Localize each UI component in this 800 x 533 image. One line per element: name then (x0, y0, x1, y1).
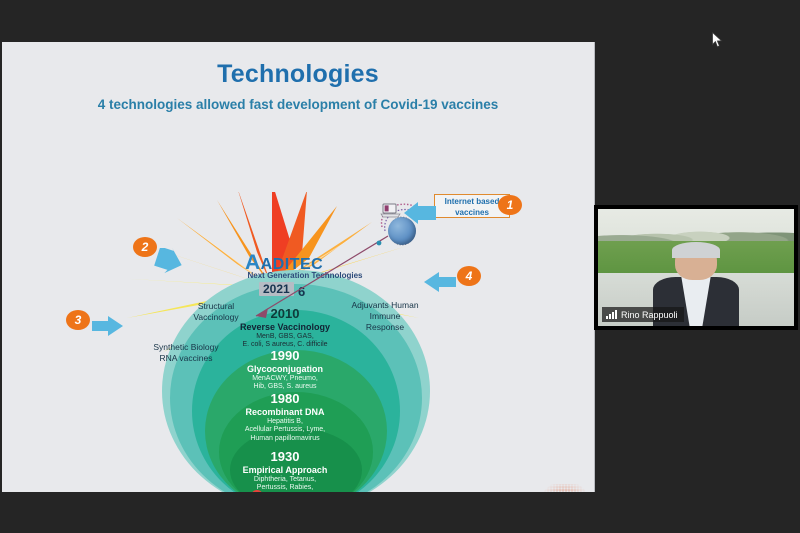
ring-items: Hepatitis B, Acellular Pertussis, Lyme, … (205, 418, 365, 443)
meeting-screen: Technologies 4 technologies allowed fast… (0, 0, 800, 533)
video-feed: Rino Rappuoli (598, 209, 794, 326)
presentation-slide[interactable]: Technologies 4 technologies allowed fast… (2, 42, 595, 492)
mouse-pointer-icon (712, 32, 723, 48)
signal-bars-icon (606, 310, 617, 319)
location-pin-icon (251, 490, 263, 492)
ring-year: 1930 (205, 450, 365, 464)
ring-heading: Empirical Approach (205, 465, 365, 475)
laptop-icon (380, 203, 402, 218)
badge-1: 1 (498, 195, 522, 215)
arrow-icon-4 (422, 270, 456, 294)
ring-heading: Recombinant DNA (205, 407, 365, 417)
participant-name: Rino Rappuoli (621, 310, 678, 320)
ring-heading: Glycoconjugation (205, 364, 365, 374)
arrow-icon-3 (92, 314, 124, 338)
page-title: Technologies (2, 60, 594, 89)
ring-year: 1980 (205, 392, 365, 406)
page-subtitle: 4 technologies allowed fast development … (2, 97, 594, 112)
connector-line (242, 232, 392, 322)
ring-heading: Reverse Vaccinology (205, 322, 365, 332)
arrow-icon-1 (402, 202, 438, 228)
participant-hair (672, 242, 720, 258)
ring-year: 1990 (205, 349, 365, 363)
arrow-icon-2 (154, 248, 184, 276)
ring-items: Diphtheria, Tetanus, Pertussis, Rabies, … (205, 476, 365, 492)
badge-4: 4 (457, 266, 481, 286)
participant-name-bar: Rino Rappuoli (602, 307, 684, 322)
erc-logo: erc (536, 484, 594, 492)
ring-items: MenACWY, Pneumo, Hib, GBS, S. aureus (205, 375, 365, 392)
ring-entry-1980: 1980 Recombinant DNA Hepatitis B, Acellu… (205, 392, 365, 443)
badge-3: 3 (66, 310, 90, 330)
ring-entry-1990: 1990 Glycoconjugation MenACWY, Pneumo, H… (205, 349, 365, 392)
ring-entry-1930: 1930 Empirical Approach Diphtheria, Teta… (205, 450, 365, 492)
participant-video-tile[interactable]: Rino Rappuoli (594, 205, 798, 330)
